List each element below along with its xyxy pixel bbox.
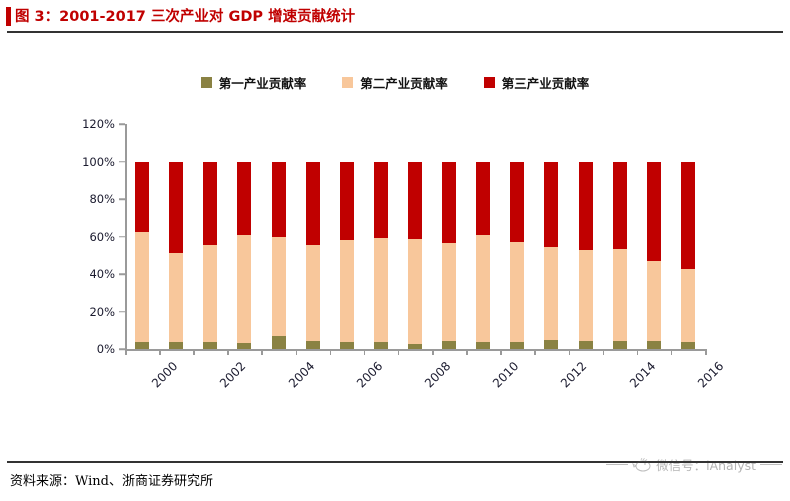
y-tick-label: 20% [67,305,115,319]
bar-segment-series-2 [579,250,593,341]
chart-plot-area: 0%20%40%60%80%100%120% 20002002200420062… [0,0,790,501]
figure-page: 图 3：2001-2017 三次产业对 GDP 增速贡献统计 第一产业贡献率第二… [0,0,790,501]
y-tick-label: 60% [67,230,115,244]
bar-segment-series-3 [340,162,354,241]
x-tick-label: 2006 [354,359,385,390]
bar-column[interactable] [579,124,593,349]
bar-segment-series-3 [306,162,320,245]
bar-segment-series-1 [203,342,217,350]
bar-segment-series-3 [647,162,661,261]
x-tick-mark [432,349,434,355]
bar-column[interactable] [340,124,354,349]
bar-column[interactable] [681,124,695,349]
x-tick-mark [261,349,263,355]
bar-segment-series-1 [306,341,320,349]
bar-segment-series-3 [510,162,524,242]
x-tick-mark [637,349,639,355]
bar-segment-series-1 [647,341,661,349]
bar-segment-series-1 [272,336,286,349]
bar-column[interactable] [476,124,490,349]
x-tick-label: 2014 [627,359,658,390]
bar-segment-series-3 [476,162,490,235]
watermark-rule-right [760,464,782,465]
bar-segment-series-2 [203,245,217,342]
x-tick-label: 2004 [285,359,316,390]
bar-column[interactable] [544,124,558,349]
bar-segment-series-3 [374,162,388,239]
y-tick-label: 0% [67,342,115,356]
x-tick-mark [603,349,605,355]
bar-segment-series-2 [613,249,627,341]
x-tick-mark [364,349,366,355]
source-note: 资料来源：Wind、浙商证券研究所 [10,470,213,489]
bar-segment-series-1 [510,342,524,349]
bar-segment-series-3 [408,162,422,240]
bar-series-layer [125,124,705,349]
y-tick-label: 40% [67,267,115,281]
y-tick-label: 120% [67,117,115,131]
bar-segment-series-1 [579,341,593,349]
watermark-text: 微信号：iAnalyst [656,455,756,474]
bar-column[interactable] [408,124,422,349]
bar-column[interactable] [374,124,388,349]
bar-column[interactable] [169,124,183,349]
bar-segment-series-2 [681,269,695,341]
bar-segment-series-1 [237,343,251,349]
x-tick-label: 2016 [695,359,726,390]
bar-segment-series-3 [237,162,251,236]
bar-segment-series-2 [647,261,661,341]
bar-segment-series-2 [408,239,422,344]
bar-segment-series-2 [374,238,388,342]
bar-segment-series-3 [272,162,286,238]
x-tick-mark [705,349,707,355]
bar-column[interactable] [237,124,251,349]
bar-segment-series-2 [237,235,251,343]
bar-column[interactable] [203,124,217,349]
x-tick-mark [330,349,332,355]
x-tick-label: 2000 [149,359,180,390]
x-tick-mark [569,349,571,355]
bar-segment-series-3 [442,162,456,244]
x-tick-label: 2012 [558,359,589,390]
bar-segment-series-2 [135,232,149,342]
bar-segment-series-3 [613,162,627,250]
bar-segment-series-2 [306,245,320,341]
bar-segment-series-1 [544,340,558,349]
bar-segment-series-3 [681,162,695,270]
bar-segment-series-1 [340,342,354,350]
y-tick-label: 100% [67,155,115,169]
bar-segment-series-2 [476,235,490,342]
bar-segment-series-1 [135,342,149,350]
x-tick-mark [500,349,502,355]
bar-segment-series-2 [169,253,183,341]
bar-column[interactable] [442,124,456,349]
x-tick-mark [193,349,195,355]
x-tick-mark [671,349,673,355]
bar-segment-series-1 [681,342,695,350]
x-tick-mark [227,349,229,355]
bar-column[interactable] [306,124,320,349]
x-tick-label: 2010 [490,359,521,390]
x-tick-mark [398,349,400,355]
bar-segment-series-2 [272,237,286,335]
bar-segment-series-1 [442,341,456,349]
y-tick-label: 80% [67,192,115,206]
bar-column[interactable] [272,124,286,349]
bar-segment-series-2 [544,247,558,341]
bar-segment-series-1 [613,341,627,349]
x-tick-mark [296,349,298,355]
bar-segment-series-3 [135,162,149,232]
bar-segment-series-3 [579,162,593,250]
x-tick-mark [534,349,536,355]
bar-segment-series-3 [544,162,558,247]
bar-segment-series-2 [510,242,524,342]
bar-segment-series-1 [476,342,490,350]
watermark: 微信号：iAnalyst [606,455,782,474]
x-tick-mark [159,349,161,355]
bar-segment-series-2 [442,243,456,341]
bar-segment-series-1 [374,342,388,349]
x-tick-mark [466,349,468,355]
x-tick-mark [125,349,127,355]
bar-segment-series-1 [169,342,183,350]
bar-column[interactable] [510,124,524,349]
watermark-rule-left [606,464,628,465]
bar-segment-series-3 [203,162,217,245]
x-axis-line [125,349,705,351]
bar-column[interactable] [135,124,149,349]
x-tick-label: 2008 [422,359,453,390]
bar-segment-series-3 [169,162,183,254]
bar-column[interactable] [647,124,661,349]
x-tick-label: 2002 [217,359,248,390]
bar-segment-series-1 [408,344,422,349]
bar-segment-series-2 [340,240,354,341]
chick-mascot-icon [632,458,652,472]
bar-column[interactable] [613,124,627,349]
